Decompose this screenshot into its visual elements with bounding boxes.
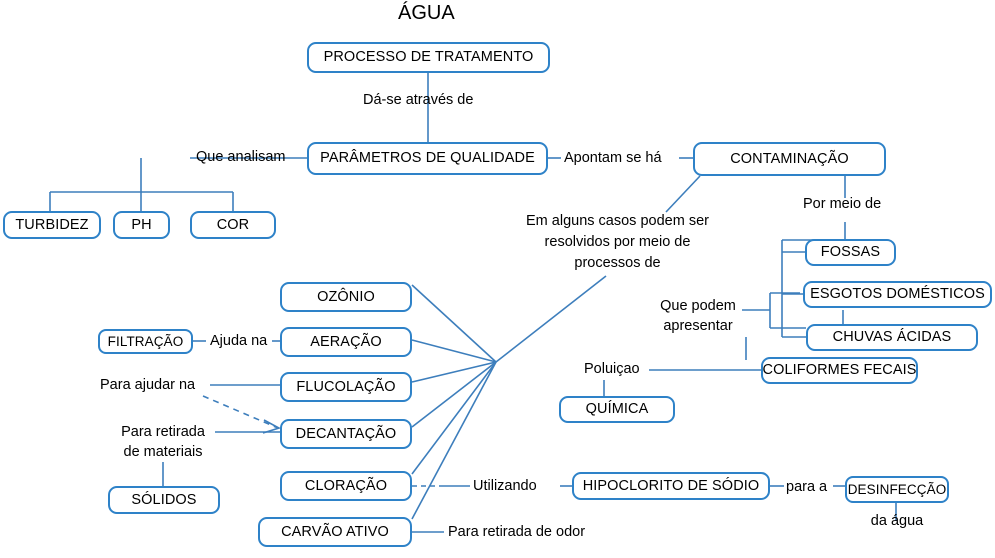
link-label-para-ajudar-na: Para ajudar na [100, 377, 195, 394]
link-label-em-alguns-casos-line2: resolvidos por meio de [520, 234, 715, 251]
node-flucolacao[interactable]: FLUCOLAÇÃO [280, 372, 412, 402]
link-label-ajuda-na: Ajuda na [210, 333, 267, 350]
node-ozonio[interactable]: OZÔNIO [280, 282, 412, 312]
link-label-para-retirada-line2: de materiais [108, 444, 218, 461]
link-label-por-meio-de: Por meio de [803, 196, 881, 213]
node-contaminacao[interactable]: CONTAMINAÇÃO [693, 142, 886, 176]
link-hub-to-carvao [412, 362, 496, 519]
link-label-utilizando: Utilizando [473, 478, 537, 495]
node-cor[interactable]: COR [190, 211, 276, 239]
node-decantacao[interactable]: DECANTAÇÃO [280, 419, 412, 449]
link-label-para-retirada-line1: Para retirada [108, 424, 218, 441]
connector-layer [0, 0, 995, 558]
link-label-apontam-se-ha: Apontam se há [564, 150, 662, 167]
link-emalguns-to-hub [496, 276, 606, 362]
link-label-em-alguns-casos-line1: Em alguns casos podem ser [520, 213, 715, 230]
link-label-que-podem-line1: Que podem [653, 298, 743, 315]
link-label-da-agua: da água [851, 513, 943, 530]
node-ph[interactable]: PH [113, 211, 170, 239]
node-solidos[interactable]: SÓLIDOS [108, 486, 220, 514]
node-filtracao[interactable]: FILTRAÇÃO [98, 329, 193, 354]
node-turbidez[interactable]: TURBIDEZ [3, 211, 101, 239]
node-parametros-de-qualidade[interactable]: PARÂMETROS DE QUALIDADE [307, 142, 548, 175]
node-cloracao[interactable]: CLORAÇÃO [280, 471, 412, 501]
node-carvao-ativo[interactable]: CARVÃO ATIVO [258, 517, 412, 547]
link-label-que-podem-line2: apresentar [653, 318, 743, 335]
link-label-para-a: para a [786, 479, 827, 496]
node-desinfeccao[interactable]: DESINFECÇÃO [845, 476, 949, 503]
node-esgotos-domesticos[interactable]: ESGOTOS DOMÉSTICOS [803, 281, 992, 308]
link-label-que-analisam: Que analisam [196, 149, 285, 166]
node-aeracao[interactable]: AERAÇÃO [280, 327, 412, 357]
link-contaminacao-to-emalguns [666, 176, 700, 212]
link-label-para-retirada-de-odor: Para retirada de odor [448, 524, 585, 541]
node-fossas[interactable]: FOSSAS [805, 239, 896, 266]
link-label-em-alguns-casos-line3: processos de [520, 255, 715, 272]
node-quimica[interactable]: QUÍMICA [559, 396, 675, 423]
node-coliformes-fecais[interactable]: COLIFORMES FECAIS [761, 357, 918, 384]
node-chuvas-acidas[interactable]: CHUVAS ÁCIDAS [806, 324, 978, 351]
link-label-da-se-atraves-de: Dá-se através de [363, 92, 473, 109]
link-label-poluicao: Poluiçao [584, 361, 640, 378]
concept-map-canvas: ÁGUA [0, 0, 995, 558]
node-hipoclorito-de-sodio[interactable]: HIPOCLORITO DE SÓDIO [572, 472, 770, 500]
node-processo-de-tratamento[interactable]: PROCESSO DE TRATAMENTO [307, 42, 550, 73]
